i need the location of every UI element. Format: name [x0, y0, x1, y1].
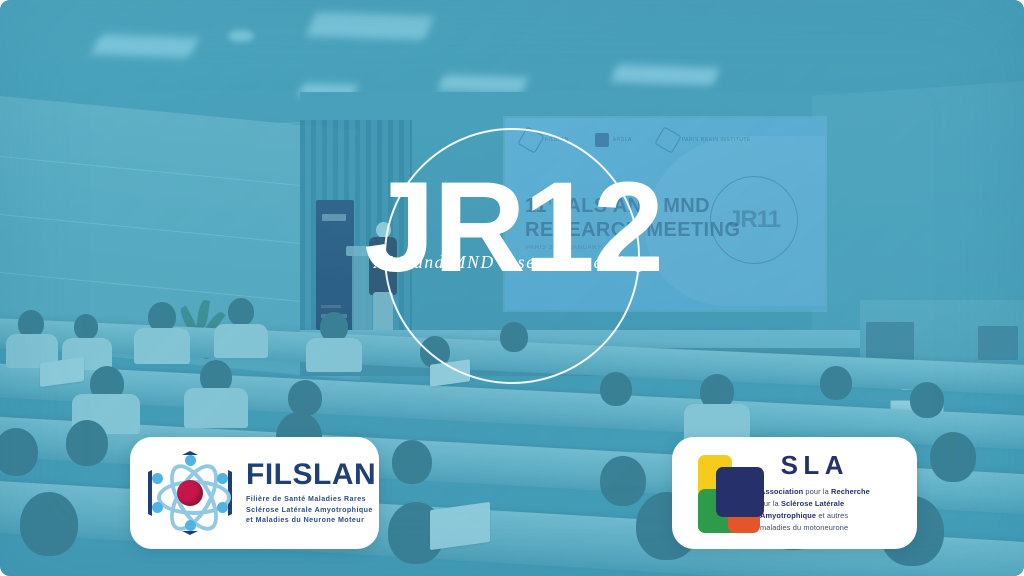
arsla-tagline: Association pour la Recherche sur la Scl… — [760, 486, 870, 534]
filslan-tagline: Filière de Santé Maladies Rares Sclérose… — [246, 494, 376, 526]
arsla-tagline-b1: Association — [760, 487, 803, 496]
filslan-tagline-line1: Filière de Santé Maladies Rares — [246, 494, 376, 505]
arsla-tagline-r3: et autres — [816, 511, 848, 520]
arsla-tagline-r1: pour la — [803, 487, 831, 496]
arsla-name-on-white: SLA — [781, 450, 850, 480]
jr12-tagline: ALS and MND research meeting — [354, 252, 666, 273]
filslan-tagline-line3: et Maladies du Neurone Moteur — [246, 515, 376, 526]
filslan-logo-card[interactable]: FILSLAN Filière de Santé Maladies Rares … — [130, 437, 379, 549]
four-squares-icon — [694, 453, 766, 533]
arsla-text: ARSLA Association pour la Recherche sur … — [760, 452, 870, 534]
arsla-tagline-b3: Sclérose Latérale — [781, 499, 844, 508]
arsla-tagline-line4: maladies du motoneurone — [760, 522, 870, 534]
arsla-tagline-b4: Amyotrophique — [760, 511, 816, 520]
arsla-tagline-b2: Recherche — [831, 487, 870, 496]
arsla-logo-card[interactable]: ARSLA Association pour la Recherche sur … — [672, 437, 917, 549]
hero-banner: FILSLAN ARSLA PARIS BRAIN INSTITUTE 11TH… — [0, 0, 1024, 576]
filslan-tagline-line2: Sclérose Latérale Amyotrophique — [246, 505, 376, 516]
atom-hexagon-icon — [144, 447, 236, 539]
filslan-name: FILSLAN — [246, 460, 376, 490]
jr12-lockup: JR12 ALS and MND research meeting — [384, 128, 640, 408]
filslan-text: FILSLAN Filière de Santé Maladies Rares … — [246, 460, 376, 526]
